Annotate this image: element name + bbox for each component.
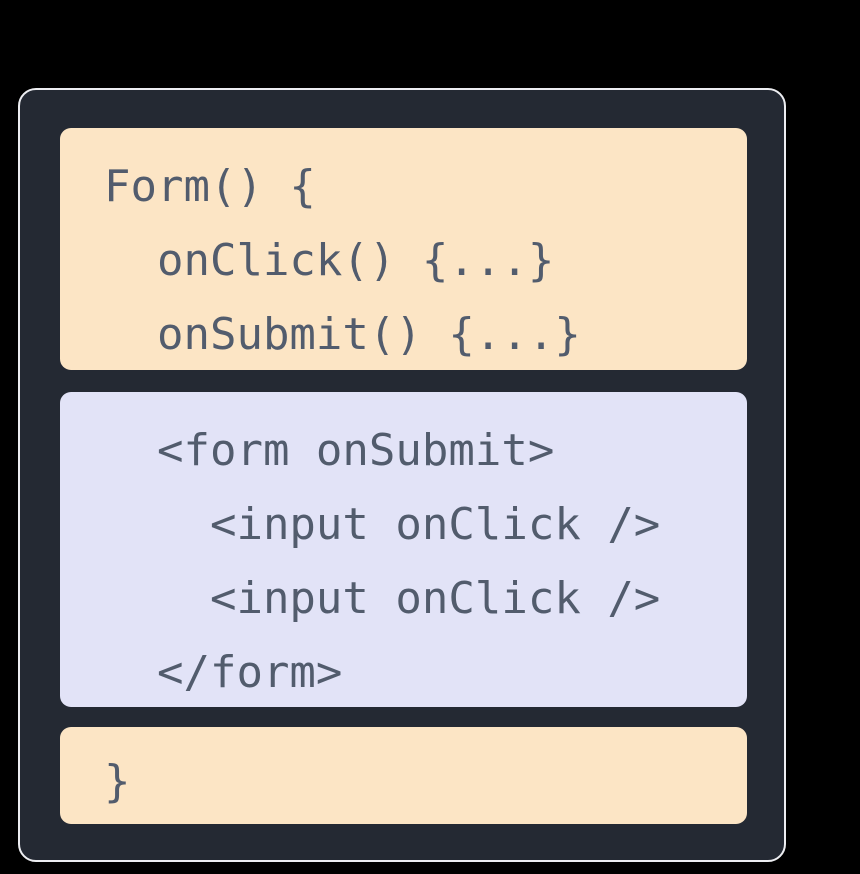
code-line: }	[60, 745, 747, 819]
code-line: </form>	[60, 636, 747, 707]
code-line: onSubmit() {...}	[60, 298, 747, 370]
code-line: <input onClick />	[60, 488, 747, 562]
page-root: Form() { onClick() {...} onSubmit() {...…	[0, 0, 860, 874]
code-line: <input onClick />	[60, 562, 747, 636]
code-block-closing: }	[60, 727, 747, 824]
code-line: <form onSubmit>	[60, 414, 747, 488]
code-line: Form() {	[60, 150, 747, 224]
code-block-markup: <form onSubmit> <input onClick /> <input…	[60, 392, 747, 707]
code-card: Form() { onClick() {...} onSubmit() {...…	[18, 88, 786, 862]
code-block-component: Form() { onClick() {...} onSubmit() {...…	[60, 128, 747, 370]
code-line: onClick() {...}	[60, 224, 747, 298]
